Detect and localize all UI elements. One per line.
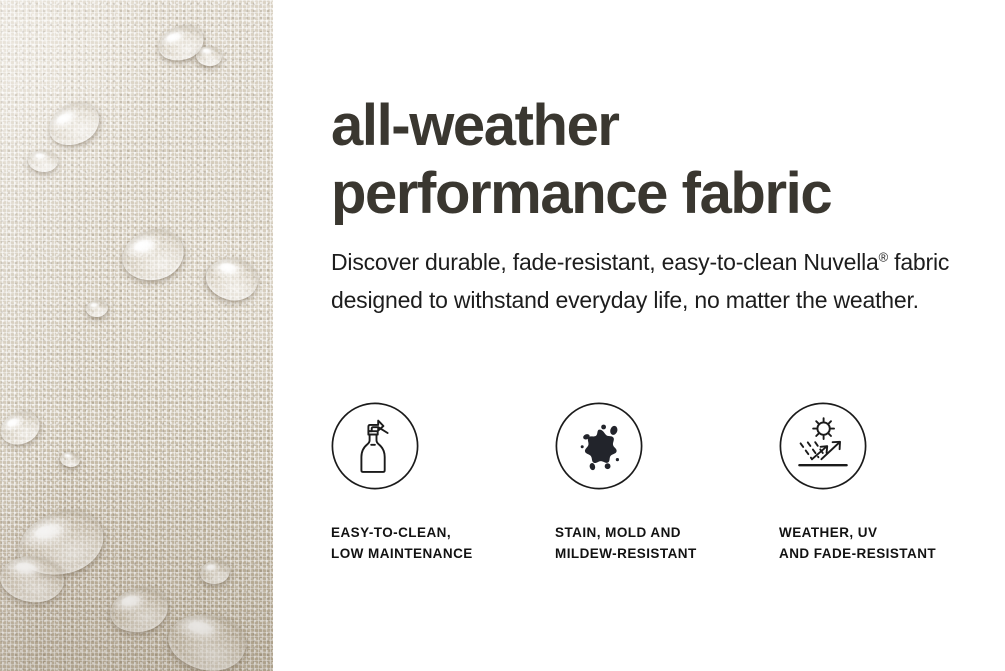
headline-line-1: all-weather	[331, 93, 619, 158]
sun-uv-reflect-icon	[779, 402, 867, 490]
subcopy-text: Discover durable, fade-resistant, easy-t…	[331, 243, 971, 319]
headline-line-2: performance fabric	[331, 161, 831, 226]
feature-caption: WEATHER, UV AND FADE-RESISTANT	[779, 522, 936, 564]
feature-item-easy-to-clean: EASY-TO-CLEAN, LOW MAINTENANCE	[331, 402, 555, 564]
fabric-photo	[0, 0, 273, 671]
feature-item-weather-resistant: WEATHER, UV AND FADE-RESISTANT	[779, 402, 1003, 564]
stain-splat-icon	[555, 402, 643, 490]
feature-caption: STAIN, MOLD AND MILDEW-RESISTANT	[555, 522, 697, 564]
feature-caption: EASY-TO-CLEAN, LOW MAINTENANCE	[331, 522, 473, 564]
registered-trademark-mark: ®	[879, 249, 888, 264]
promo-banner: all-weatherperformance fabric Discover d…	[0, 0, 1005, 671]
feature-list: EASY-TO-CLEAN, LOW MAINTENANCE	[331, 402, 1003, 564]
content-panel: all-weatherperformance fabric Discover d…	[273, 0, 1005, 671]
page-title: all-weatherperformance fabric	[331, 92, 991, 228]
subcopy-part-1: Discover durable, fade-resistant, easy-t…	[331, 249, 879, 275]
spray-bottle-icon	[331, 402, 419, 490]
feature-item-stain-resistant: STAIN, MOLD AND MILDEW-RESISTANT	[555, 402, 779, 564]
